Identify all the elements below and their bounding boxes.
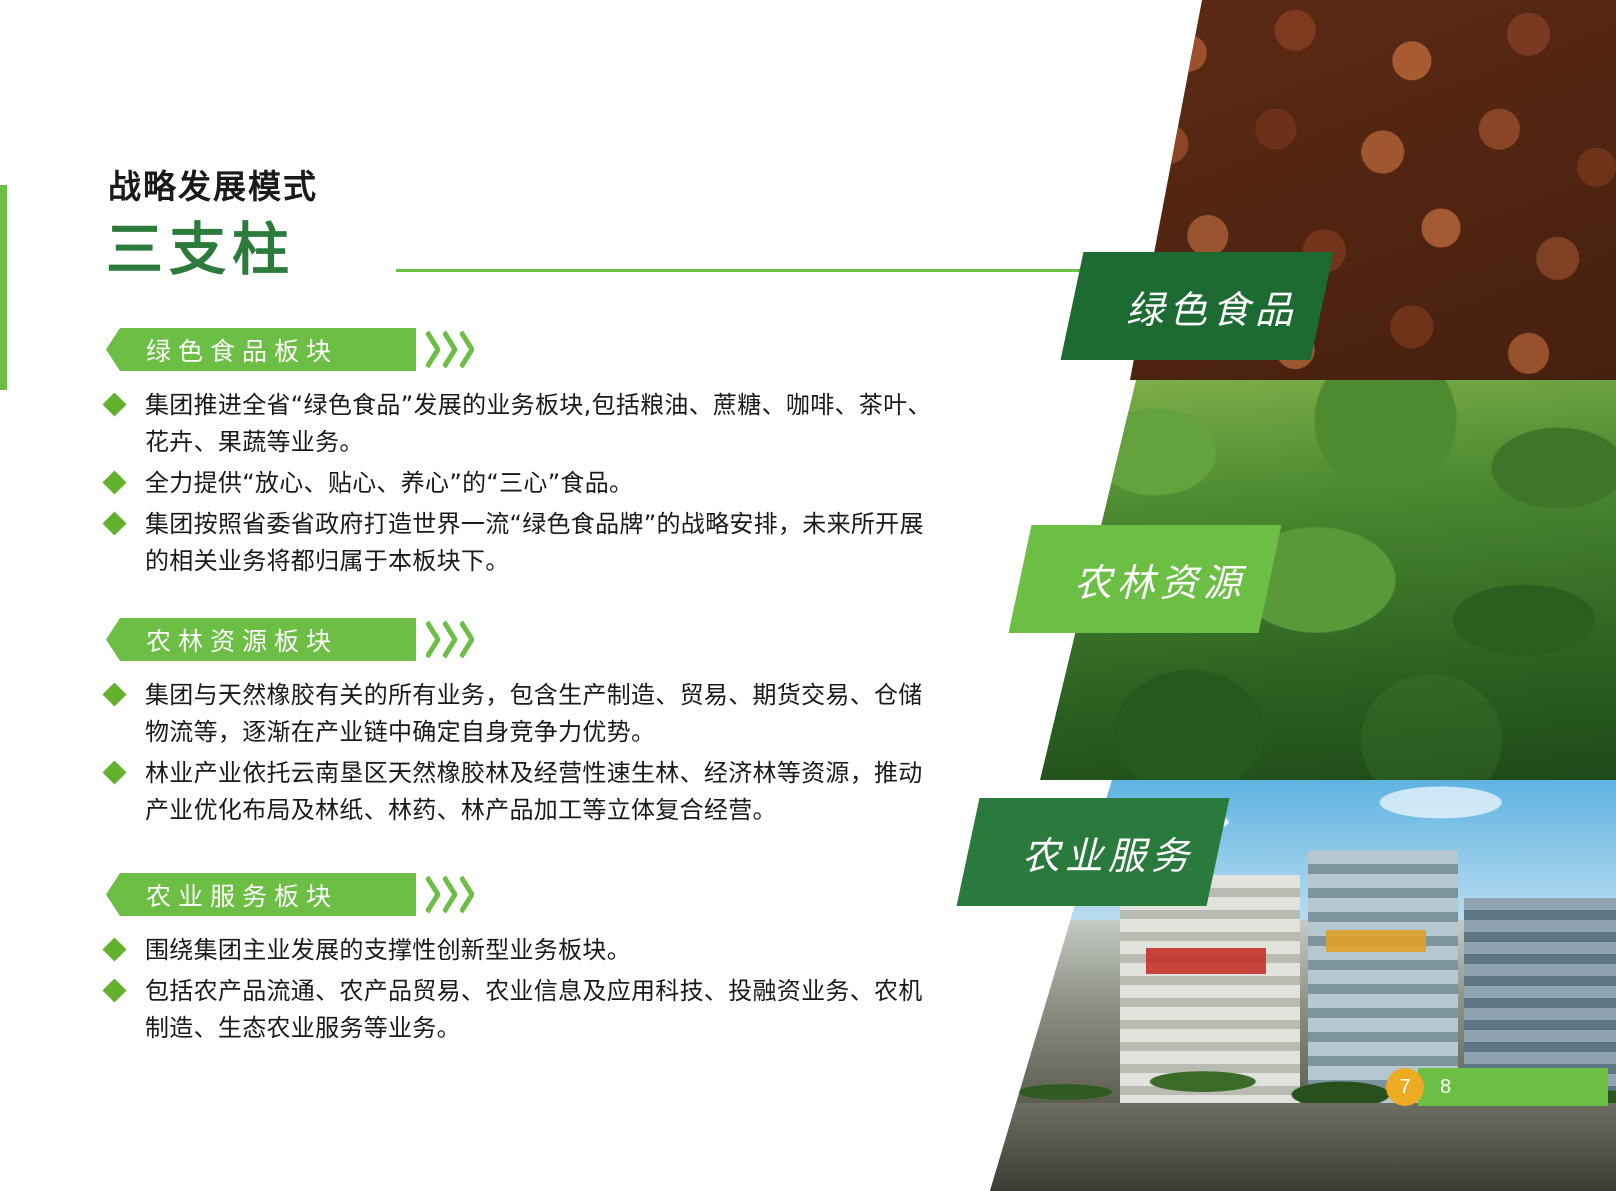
- photo-label-agri-service: 农业服务: [957, 798, 1230, 906]
- section-banner-label: 农林资源板块: [146, 618, 338, 661]
- diamond-bullet-icon: [102, 682, 126, 706]
- bullet-text: 林业产业依托云南垦区天然橡胶林及经营性速生林、经济林等资源，推动产业优化布局及林…: [145, 755, 936, 829]
- page-title: 三支柱: [106, 222, 295, 279]
- section-banner[interactable]: 绿色食品板块: [106, 328, 466, 371]
- section-banner[interactable]: 农林资源板块: [106, 618, 466, 661]
- list-item: 包括农产品流通、农产品贸易、农业信息及应用科技、投融资业务、农机制造、生态农业服…: [106, 973, 936, 1047]
- bullet-text: 围绕集团主业发展的支撑性创新型业务板块。: [145, 932, 936, 969]
- list-item: 集团推进全省“绿色食品”发展的业务板块,包括粮油、蔗糖、咖啡、茶叶、花卉、果蔬等…: [106, 387, 936, 461]
- section-banner-label: 绿色食品板块: [146, 328, 338, 371]
- content-column: 战略发展模式 三支柱 绿色食品板块: [0, 0, 960, 1191]
- photo-label-text: 绿色食品: [1126, 279, 1298, 334]
- chevron-right-icon: [426, 330, 440, 369]
- list-item: 集团按照省委省政府打造世界一流“绿色食品牌”的战略安排，未来所开展的相关业务将都…: [106, 506, 936, 580]
- diamond-bullet-icon: [102, 511, 126, 535]
- section-bullet-list: 集团推进全省“绿色食品”发展的业务板块,包括粮油、蔗糖、咖啡、茶叶、花卉、果蔬等…: [106, 387, 936, 580]
- diamond-bullet-icon: [102, 760, 126, 784]
- photo-label-text: 农林资源: [1074, 552, 1246, 607]
- brochure-page: 战略发展模式 三支柱 绿色食品板块: [0, 0, 1616, 1191]
- bullet-text: 集团推进全省“绿色食品”发展的业务板块,包括粮油、蔗糖、咖啡、茶叶、花卉、果蔬等…: [145, 387, 936, 461]
- page-kicker: 战略发展模式: [108, 160, 318, 208]
- photo-label-green-food: 绿色食品: [1061, 252, 1334, 360]
- chevron-right-icon: [460, 875, 474, 914]
- list-item: 围绕集团主业发展的支撑性创新型业务板块。: [106, 932, 936, 969]
- section-banner[interactable]: 农业服务板块: [106, 873, 466, 916]
- list-item: 集团与天然橡胶有关的所有业务，包含生产制造、贸易、期货交易、仓储物流等，逐渐在产…: [106, 677, 936, 751]
- section-agro-forestry: 农林资源板块 集团与天然橡胶有关的所有业务，包含生产制造、贸易、期货交易、仓储物…: [0, 618, 960, 833]
- next-page-badge[interactable]: 8: [1418, 1068, 1608, 1106]
- chevron-right-icon: [443, 620, 457, 659]
- storefront-sign: [1146, 948, 1266, 974]
- diamond-bullet-icon: [102, 937, 126, 961]
- bullet-text: 全力提供“放心、贴心、养心”的“三心”食品。: [145, 465, 936, 502]
- photo-label-agro-forestry: 农林资源: [1009, 525, 1282, 633]
- list-item: 林业产业依托云南垦区天然橡胶林及经营性速生林、经济林等资源，推动产业优化布局及林…: [106, 755, 936, 829]
- chevron-right-icon: [460, 330, 474, 369]
- section-banner-label: 农业服务板块: [146, 873, 338, 916]
- section-green-food: 绿色食品板块 集团推进全省“绿色食品”发展的业务板块,包括粮油、蔗糖、咖啡、茶叶…: [0, 328, 960, 584]
- current-page-badge[interactable]: 7: [1386, 1068, 1424, 1106]
- diamond-bullet-icon: [102, 392, 126, 416]
- bullet-text: 包括农产品流通、农产品贸易、农业信息及应用科技、投融资业务、农机制造、生态农业服…: [145, 973, 936, 1047]
- chevron-right-icon: [443, 330, 457, 369]
- photo-label-text: 农业服务: [1022, 825, 1194, 880]
- chevron-right-icon: [460, 620, 474, 659]
- street-road: [990, 1103, 1616, 1191]
- chevron-right-icon: [426, 620, 440, 659]
- section-agri-service: 农业服务板块 围绕集团主业发展的支撑性创新型业务板块。 包括: [0, 873, 960, 1051]
- diamond-bullet-icon: [102, 470, 126, 494]
- section-bullet-list: 围绕集团主业发展的支撑性创新型业务板块。 包括农产品流通、农产品贸易、农业信息及…: [106, 932, 936, 1047]
- diamond-bullet-icon: [102, 978, 126, 1002]
- bullet-text: 集团按照省委省政府打造世界一流“绿色食品牌”的战略安排，未来所开展的相关业务将都…: [145, 506, 936, 580]
- page-title-group: 三支柱: [106, 222, 1036, 294]
- chevron-right-icon: [426, 875, 440, 914]
- list-item: 全力提供“放心、贴心、养心”的“三心”食品。: [106, 465, 936, 502]
- storefront-sign: [1326, 930, 1426, 952]
- pagination: 7 8: [1386, 1068, 1608, 1106]
- bullet-text: 集团与天然橡胶有关的所有业务，包含生产制造、贸易、期货交易、仓储物流等，逐渐在产…: [145, 677, 936, 751]
- chevron-right-icon: [443, 875, 457, 914]
- section-bullet-list: 集团与天然橡胶有关的所有业务，包含生产制造、贸易、期货交易、仓储物流等，逐渐在产…: [106, 677, 936, 829]
